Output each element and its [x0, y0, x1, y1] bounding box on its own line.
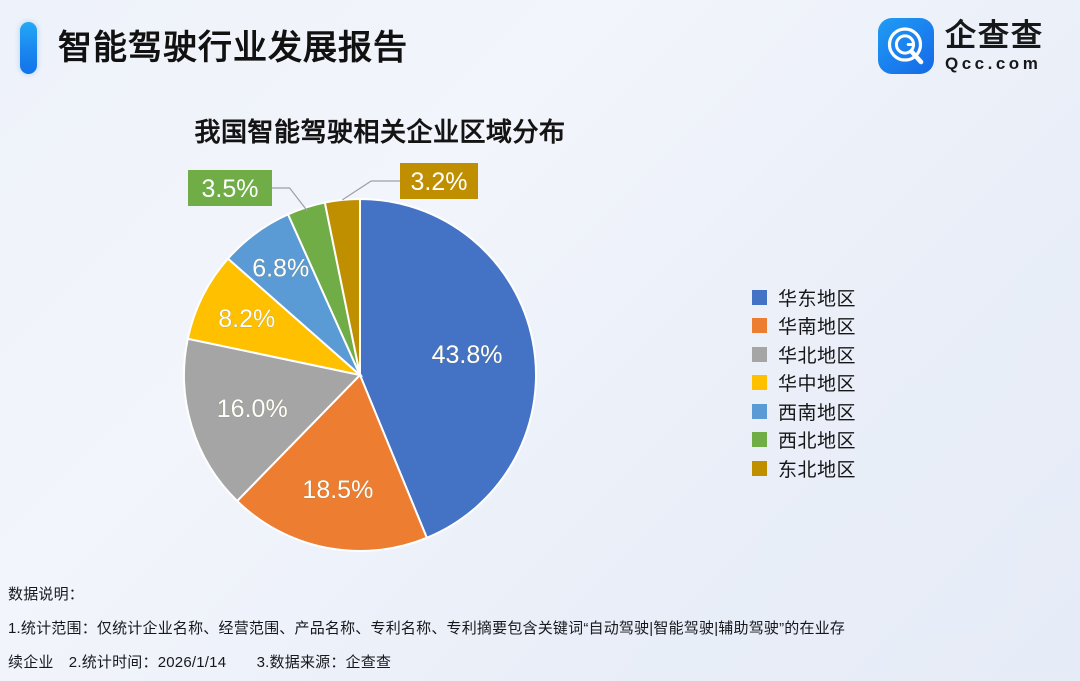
- pie-callout-label: 3.2%: [411, 168, 468, 196]
- pie-slice-label: 8.2%: [218, 305, 275, 333]
- brand-text: 企查查 Qcc.com: [945, 19, 1044, 74]
- legend-label: 西南地区: [778, 398, 856, 425]
- legend-item[interactable]: 西北地区: [752, 426, 932, 454]
- pie-slice-label: 43.8%: [432, 341, 503, 369]
- legend-label: 华北地区: [778, 341, 856, 368]
- legend-label: 东北地区: [778, 455, 856, 482]
- pie-slice-label: 18.5%: [302, 476, 373, 504]
- brand-name-en: Qcc.com: [945, 54, 1044, 74]
- brand-name-cn: 企查查: [945, 19, 1044, 53]
- legend-item[interactable]: 华中地区: [752, 369, 932, 397]
- legend-swatch-icon: [752, 347, 767, 362]
- pie-label-leader-line: [342, 181, 400, 200]
- legend-item[interactable]: 华南地区: [752, 312, 932, 340]
- page-title: 智能驾驶行业发展报告: [58, 22, 408, 74]
- pie-callout-label: 3.5%: [202, 175, 259, 203]
- brand-logo: 企查查 Qcc.com: [878, 17, 1044, 75]
- legend-swatch-icon: [752, 290, 767, 305]
- legend-item[interactable]: 西南地区: [752, 397, 932, 425]
- legend-swatch-icon: [752, 375, 767, 390]
- legend-item[interactable]: 华东地区: [752, 283, 932, 311]
- legend-label: 华中地区: [778, 369, 856, 396]
- legend-swatch-icon: [752, 432, 767, 447]
- note-line-2: 续企业 2.统计时间：2026/1/14 3.数据来源：企查查: [8, 646, 1072, 680]
- legend-swatch-icon: [752, 318, 767, 333]
- chart-title: 我国智能驾驶相关企业区域分布: [0, 112, 760, 149]
- pie-label-leader-line: [272, 188, 307, 211]
- data-note: 数据说明： 1.统计范围：仅统计企业名称、经营范围、产品名称、专利名称、专利摘要…: [8, 578, 1072, 680]
- pie-slice-label: 16.0%: [217, 395, 288, 423]
- title-accent-bar: [20, 22, 37, 74]
- pie-slice-label: 6.8%: [252, 254, 309, 282]
- legend-item[interactable]: 华北地区: [752, 340, 932, 368]
- legend-item[interactable]: 东北地区: [752, 454, 932, 482]
- note-line-1: 1.统计范围：仅统计企业名称、经营范围、产品名称、专利名称、专利摘要包含关键词“…: [8, 612, 1072, 646]
- chart-legend: 华东地区华南地区华北地区华中地区西南地区西北地区东北地区: [752, 283, 932, 483]
- pie-chart: 43.8%18.5%16.0%8.2%6.8%3.5%3.2%: [0, 150, 740, 570]
- note-heading: 数据说明：: [8, 578, 1072, 612]
- page-header: 智能驾驶行业发展报告 企查查 Qcc.com: [0, 0, 1080, 92]
- legend-label: 华东地区: [778, 284, 856, 311]
- legend-swatch-icon: [752, 404, 767, 419]
- legend-label: 西北地区: [778, 426, 856, 453]
- qcc-logo-icon: [878, 18, 934, 74]
- legend-label: 华南地区: [778, 312, 856, 339]
- legend-swatch-icon: [752, 461, 767, 476]
